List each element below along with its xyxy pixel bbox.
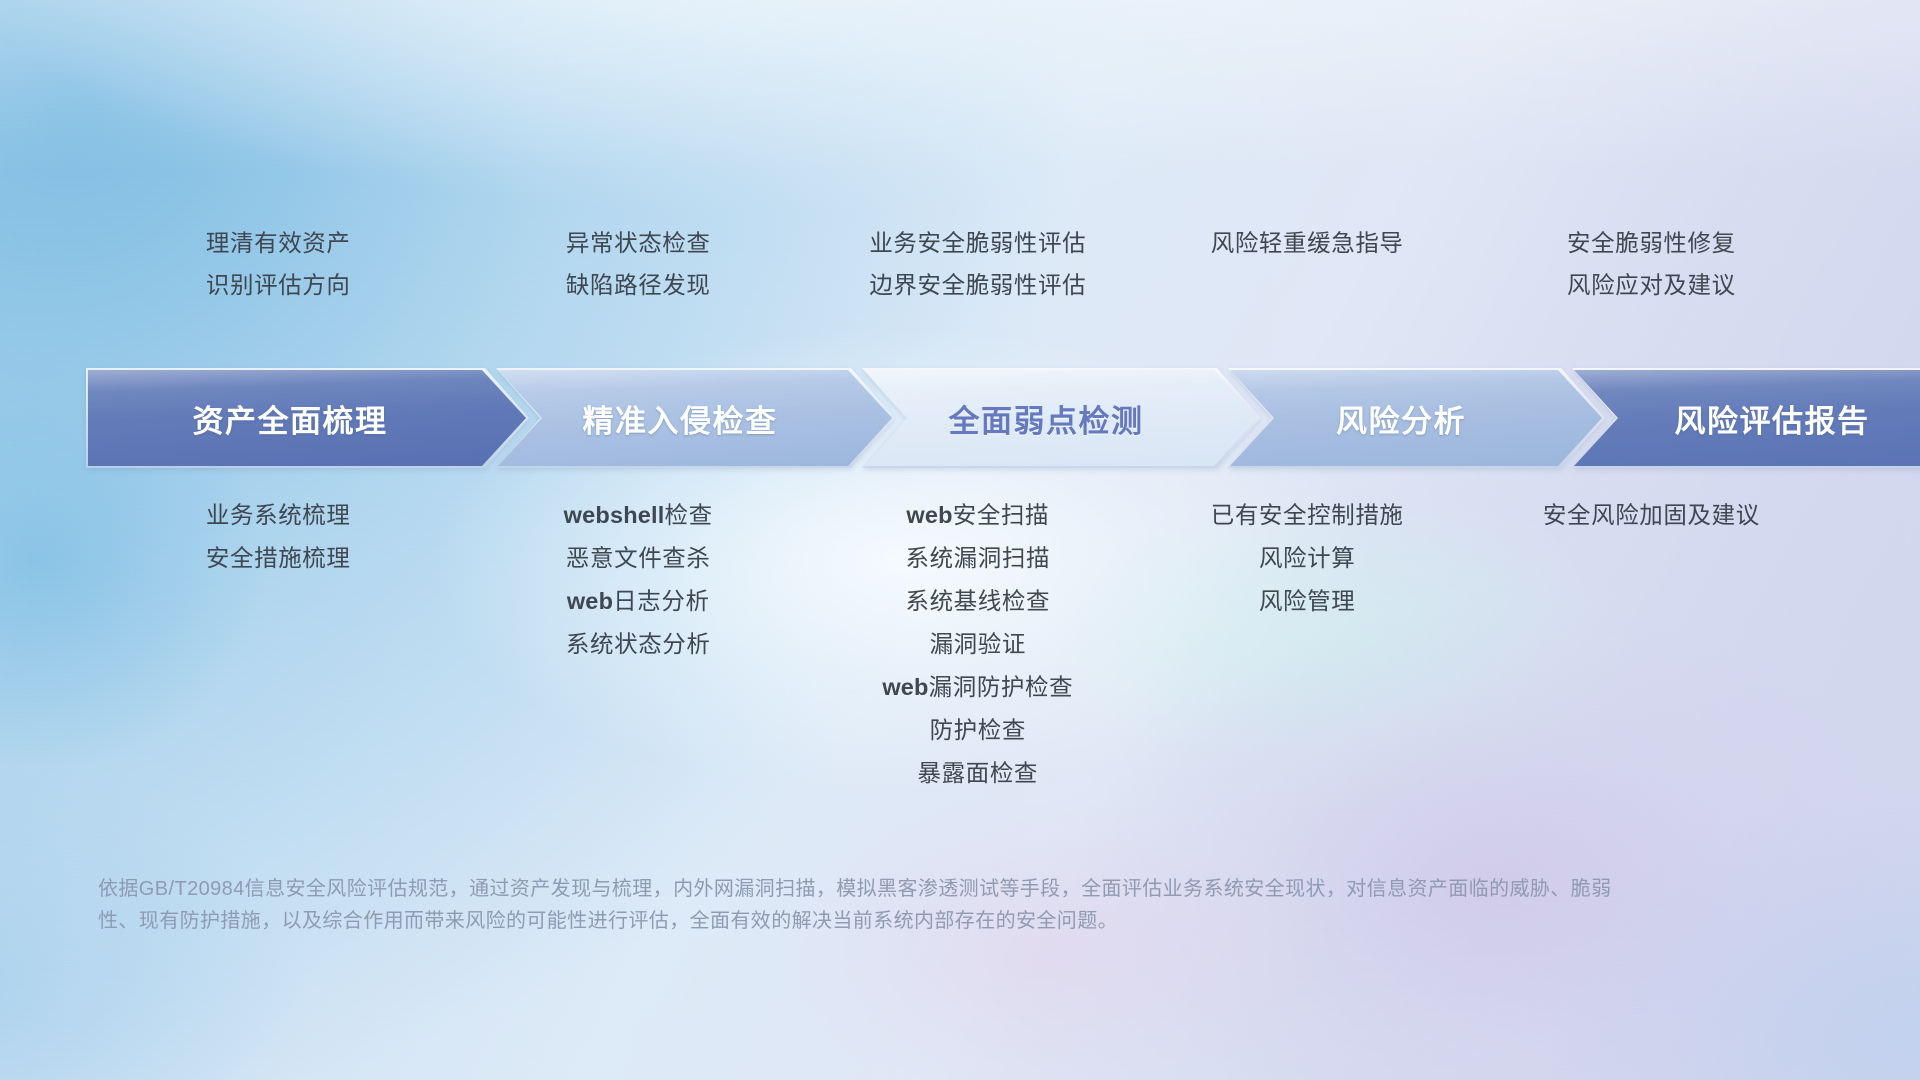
stage-outcome-item: 风险轻重缓急指导	[1211, 228, 1404, 258]
stage-activity-group-risk-analysis: 已有安全控制措施风险计算风险管理	[1148, 500, 1467, 616]
stage-outcome-group-risk-assessment-report: 安全脆弱性修复风险应对及建议	[1467, 228, 1836, 300]
stage-title: 风险分析	[1336, 396, 1496, 441]
stage-activity-item: 漏洞验证	[930, 629, 1026, 659]
stage-activity-item: web安全扫描	[906, 500, 1049, 530]
process-stage-risk-assessment-report[interactable]: 风险评估报告	[1574, 370, 1920, 466]
process-flow-ribbon: 资产全面梳理精准入侵检查全面弱点检测风险分析风险评估报告	[88, 370, 1920, 466]
stage-outcome-item: 缺陷路径发现	[566, 270, 711, 300]
stage-outcome-group-comprehensive-weakness-detection: 业务安全脆弱性评估边界安全脆弱性评估	[808, 228, 1148, 300]
activity-cjk-suffix: 检查	[665, 502, 713, 528]
stage-outcome-item: 理清有效资产	[206, 228, 351, 258]
stage-activity-item: 暴露面检查	[918, 758, 1039, 788]
stage-activity-item: web日志分析	[567, 586, 710, 616]
stage-outcome-group-risk-analysis: 风险轻重缓急指导	[1148, 228, 1467, 300]
stage-activity-item: 风险计算	[1259, 543, 1355, 573]
stage-activity-item: 防护检查	[930, 715, 1026, 745]
footer-description: 依据GB/T20984信息安全风险评估规范，通过资产发现与梳理，内外网漏洞扫描，…	[98, 873, 1618, 938]
activity-cjk-suffix: 安全扫描	[953, 502, 1049, 528]
stage-activities-row: 业务系统梳理安全措施梳理webshell检查恶意文件查杀web日志分析系统状态分…	[88, 500, 1836, 789]
stage-outcome-item: 安全脆弱性修复	[1567, 228, 1736, 258]
stage-activity-group-risk-assessment-report: 安全风险加固及建议	[1467, 500, 1836, 530]
stage-outcome-item: 风险应对及建议	[1567, 270, 1736, 300]
process-stage-risk-analysis[interactable]: 风险分析	[1230, 370, 1602, 466]
slide-canvas: 理清有效资产识别评估方向异常状态检查缺陷路径发现业务安全脆弱性评估边界安全脆弱性…	[0, 0, 1920, 1080]
stage-activity-item: 系统漏洞扫描	[905, 543, 1050, 573]
stage-title: 资产全面梳理	[193, 396, 422, 441]
stage-outcomes-row: 理清有效资产识别评估方向异常状态检查缺陷路径发现业务安全脆弱性评估边界安全脆弱性…	[88, 228, 1836, 300]
process-stage-asset-inventory[interactable]: 资产全面梳理	[88, 370, 526, 466]
stage-activity-item: 系统基线检查	[905, 586, 1050, 616]
stage-title: 全面弱点检测	[949, 396, 1174, 441]
stage-activity-group-comprehensive-weakness-detection: web安全扫描系统漏洞扫描系统基线检查漏洞验证web漏洞防护检查防护检查暴露面检…	[808, 500, 1148, 789]
stage-outcome-item: 异常状态检查	[566, 228, 711, 258]
stage-activity-item: 已有安全控制措施	[1211, 500, 1404, 530]
stage-activity-item: 系统状态分析	[566, 629, 711, 659]
stage-activity-item: webshell检查	[564, 500, 713, 530]
activity-latin-prefix: web	[906, 502, 952, 528]
process-stage-precise-intrusion-check[interactable]: 精准入侵检查	[498, 370, 892, 466]
activity-cjk-suffix: 漏洞防护检查	[929, 674, 1074, 700]
activity-latin-prefix: webshell	[564, 502, 665, 528]
stage-outcome-item: 边界安全脆弱性评估	[869, 270, 1086, 300]
activity-latin-prefix: web	[882, 674, 928, 700]
stage-outcome-item: 识别评估方向	[206, 270, 351, 300]
stage-activity-item: 业务系统梳理	[206, 500, 351, 530]
stage-activity-item: 安全措施梳理	[206, 543, 351, 573]
stage-outcome-group-asset-inventory: 理清有效资产识别评估方向	[88, 228, 468, 300]
stage-outcome-item: 业务安全脆弱性评估	[869, 228, 1086, 258]
stage-outcome-group-precise-intrusion-check: 异常状态检查缺陷路径发现	[468, 228, 808, 300]
stage-activity-item: 恶意文件查杀	[566, 543, 711, 573]
stage-title: 精准入侵检查	[583, 396, 808, 441]
process-stage-comprehensive-weakness-detection[interactable]: 全面弱点检测	[864, 370, 1258, 466]
stage-title: 风险评估报告	[1675, 396, 1900, 441]
stage-activity-item: 安全风险加固及建议	[1543, 500, 1760, 530]
stage-activity-item: 风险管理	[1259, 586, 1355, 616]
stage-activity-group-precise-intrusion-check: webshell检查恶意文件查杀web日志分析系统状态分析	[468, 500, 808, 659]
activity-latin-prefix: web	[567, 588, 613, 614]
activity-cjk-suffix: 日志分析	[613, 588, 709, 614]
stage-activity-group-asset-inventory: 业务系统梳理安全措施梳理	[88, 500, 468, 573]
stage-activity-item: web漏洞防护检查	[882, 672, 1073, 702]
